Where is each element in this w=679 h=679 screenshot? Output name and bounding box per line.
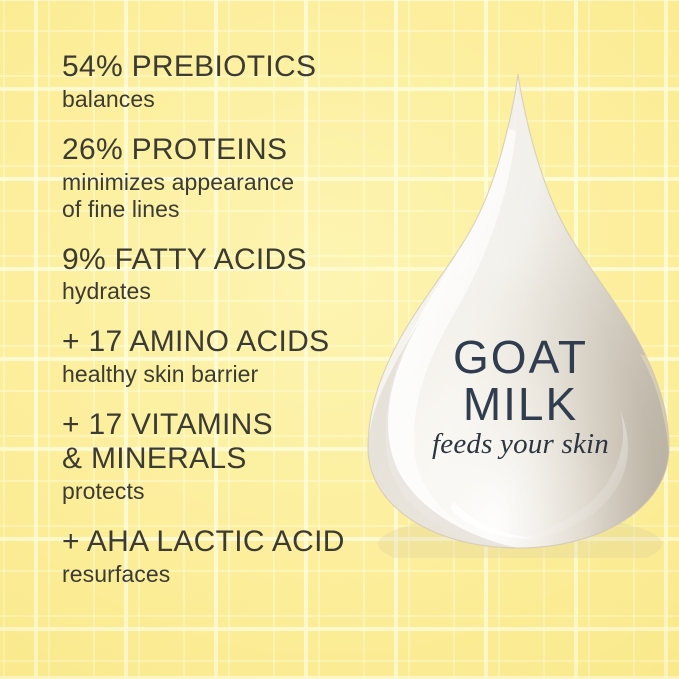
ingredient-benefit: protects bbox=[62, 478, 392, 505]
ingredient-headline: + 17 VITAMINS & MINERALS bbox=[62, 408, 392, 476]
list-item: + 17 AMINO ACIDS healthy skin barrier bbox=[62, 325, 392, 388]
ingredient-benefit: minimizes appearance of fine lines bbox=[62, 169, 392, 223]
droplet-icon bbox=[358, 58, 679, 558]
ingredient-benefit: hydrates bbox=[62, 278, 392, 305]
list-item: + 17 VITAMINS & MINERALS protects bbox=[62, 408, 392, 505]
ingredient-benefit: resurfaces bbox=[62, 561, 392, 588]
ingredient-benefit: healthy skin barrier bbox=[62, 361, 392, 388]
ingredient-headline: 9% FATTY ACIDS bbox=[62, 243, 392, 277]
ingredient-headline: + AHA LACTIC ACID bbox=[62, 525, 392, 559]
ingredient-benefit: balances bbox=[62, 86, 392, 113]
droplet-shading bbox=[358, 58, 679, 558]
list-item: 26% PROTEINS minimizes appearance of fin… bbox=[62, 133, 392, 223]
list-item: 54% PREBIOTICS balances bbox=[62, 50, 392, 113]
milk-droplet: GOAT MILK feeds your skin bbox=[358, 58, 679, 558]
ingredient-headline: 54% PREBIOTICS bbox=[62, 50, 392, 84]
ingredient-headline: + 17 AMINO ACIDS bbox=[62, 325, 392, 359]
list-item: 9% FATTY ACIDS hydrates bbox=[62, 243, 392, 306]
ingredient-list: 54% PREBIOTICS balances 26% PROTEINS min… bbox=[62, 50, 392, 588]
infographic-canvas: 54% PREBIOTICS balances 26% PROTEINS min… bbox=[0, 0, 679, 679]
list-item: + AHA LACTIC ACID resurfaces bbox=[62, 525, 392, 588]
ingredient-headline: 26% PROTEINS bbox=[62, 133, 392, 167]
